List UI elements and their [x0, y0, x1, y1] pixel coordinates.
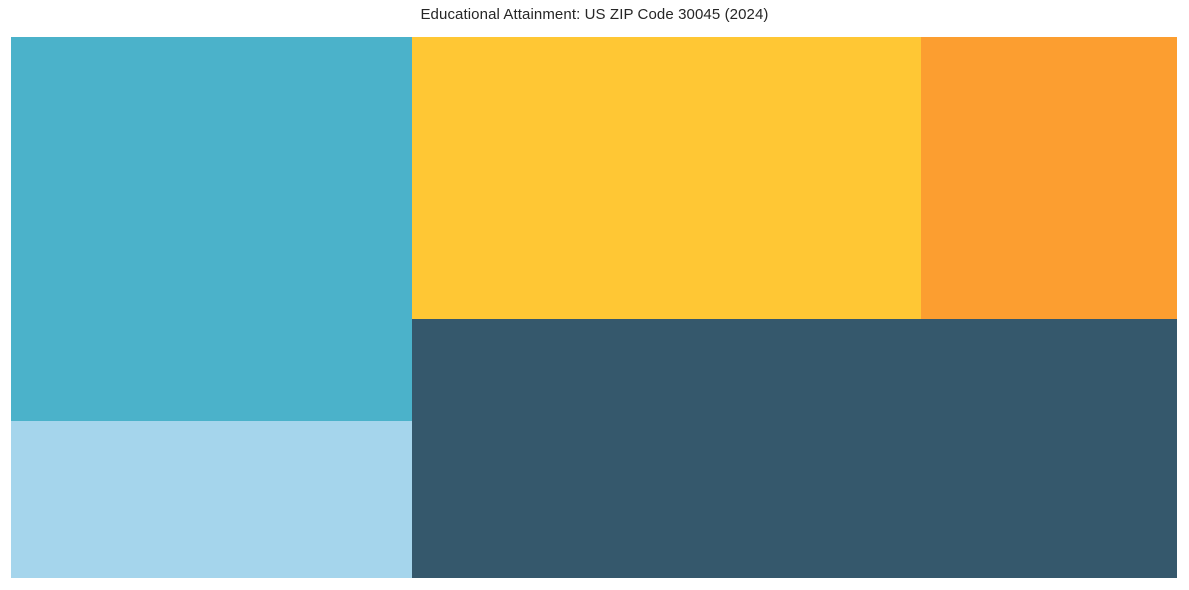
treemap-tile-bachelors-degree[interactable]: Bachelor's degree	[412, 37, 921, 319]
treemap-tile-high-school-graduate[interactable]: High school graduate	[11, 37, 412, 421]
treemap-figure: Educational Attainment: US ZIP Code 3004…	[0, 0, 1189, 590]
treemap-tile-graduate-professional-degree[interactable]: Graduate or professional degree	[921, 37, 1177, 319]
treemap-tile-some-college-no-degree[interactable]: Some college, no degree	[412, 319, 1177, 578]
treemap-plot-area: High school graduate Bachelor's degree G…	[11, 37, 1177, 578]
chart-title: Educational Attainment: US ZIP Code 3004…	[0, 6, 1189, 23]
treemap-tile-less-than-high-school[interactable]: Less than high school	[11, 421, 412, 578]
